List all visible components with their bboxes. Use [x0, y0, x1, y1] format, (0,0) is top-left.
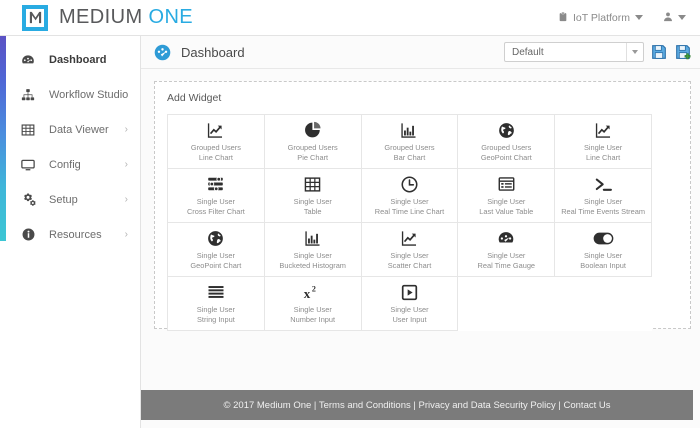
widget-cell[interactable]: Single UserTable — [265, 169, 362, 223]
widget-scope-label: Single User — [584, 251, 622, 261]
widget-cell[interactable]: Single UserReal Time Events Stream — [555, 169, 652, 223]
chevron-down-icon — [678, 15, 686, 20]
widget-name-label: Line Chart — [586, 153, 620, 163]
widget-cell[interactable]: Single UserCross Filter Chart — [168, 169, 265, 223]
widget-scope-label: Single User — [390, 305, 428, 315]
widget-name-label: GeoPoint Chart — [190, 261, 241, 271]
gauge-icon — [497, 229, 515, 248]
chevron-right-icon: › — [125, 195, 128, 205]
widget-scope-label: Grouped Users — [191, 143, 241, 153]
page-title: Dashboard — [181, 45, 245, 60]
widget-name-label: Boolean Input — [580, 261, 626, 271]
widget-scope-label: Single User — [584, 143, 622, 153]
widget-name-label: Last Value Table — [479, 207, 533, 217]
widget-scope-label: Single User — [294, 305, 332, 315]
brand-text: MEDIUM ONE — [59, 6, 193, 29]
dashboard-select-value: Default — [512, 47, 544, 58]
widget-cell[interactable]: Single UserScatter Chart — [362, 223, 459, 277]
add-widget-panel: Add Widget Grouped UsersLine ChartGroupe… — [154, 81, 691, 329]
sidebar-item-resources[interactable]: Resources › — [0, 217, 140, 252]
widget-scope-label: Single User — [584, 197, 622, 207]
platform-selector[interactable]: IoT Platform — [558, 11, 643, 25]
platform-label: IoT Platform — [573, 12, 630, 24]
sidebar-item-workflow-studio[interactable]: Workflow Studio — [0, 77, 140, 112]
widget-scope-label: Single User — [197, 251, 235, 261]
content-header-actions: Default — [504, 42, 692, 62]
widget-name-label: Table — [304, 207, 322, 217]
toggle-icon — [593, 229, 614, 248]
widget-name-label: Cross Filter Chart — [187, 207, 245, 217]
widget-scope-label: Grouped Users — [481, 143, 531, 153]
globe-icon — [207, 229, 224, 248]
widget-scope-label: Single User — [390, 197, 428, 207]
widget-cell-empty — [555, 277, 652, 331]
info-icon — [19, 228, 37, 241]
panel-title: Add Widget — [167, 92, 678, 104]
widget-scope-label: Single User — [197, 197, 235, 207]
top-bar: MEDIUM ONE IoT Platform — [0, 0, 700, 36]
widget-cell[interactable]: Single UserString Input — [168, 277, 265, 331]
chevron-down-icon — [635, 15, 643, 20]
top-bar-actions: IoT Platform — [558, 11, 686, 25]
grid-table-icon — [304, 175, 321, 194]
play-box-icon — [401, 283, 418, 302]
widget-scope-label: Grouped Users — [288, 143, 338, 153]
gauge-icon — [19, 53, 37, 67]
svg-text:2: 2 — [312, 284, 316, 293]
save-icon[interactable] — [650, 43, 668, 61]
widget-cell[interactable]: Single UserGeoPoint Chart — [168, 223, 265, 277]
bar-chart-icon — [304, 229, 322, 248]
widget-name-label: Line Chart — [199, 153, 233, 163]
sidebar-item-config[interactable]: Config › — [0, 147, 140, 182]
widget-scope-label: Single User — [294, 251, 332, 261]
sidebar-item-label: Resources — [49, 229, 102, 241]
clock-icon — [401, 175, 418, 194]
line-chart-icon — [206, 121, 225, 140]
sidebar-item-dashboard[interactable]: Dashboard — [0, 42, 140, 77]
widget-scope-label: Single User — [487, 251, 525, 261]
sidebar-item-label: Config — [49, 159, 81, 171]
user-icon — [663, 11, 673, 25]
medium-one-logo-icon — [22, 5, 48, 31]
widget-name-label: Bar Chart — [394, 153, 426, 163]
widget-cell[interactable]: Grouped UsersPie Chart — [265, 115, 362, 169]
brand-name-secondary: ONE — [148, 6, 193, 28]
sidebar-item-label: Dashboard — [49, 54, 106, 66]
terminal-icon — [594, 175, 613, 194]
sidebar-item-label: Workflow Studio — [49, 89, 128, 101]
widget-scope-label: Single User — [294, 197, 332, 207]
list-table-icon — [498, 175, 515, 194]
brand-name-primary: MEDIUM — [59, 6, 143, 28]
widget-cell[interactable]: Single UserBucketed Histogram — [265, 223, 362, 277]
widget-name-label: String Input — [197, 315, 235, 325]
sitemap-icon — [19, 88, 37, 102]
widget-name-label: User Input — [392, 315, 426, 325]
widget-cell[interactable]: Grouped UsersGeoPoint Chart — [458, 115, 555, 169]
sliders-icon — [206, 175, 225, 194]
sidebar-item-data-viewer[interactable]: Data Viewer › — [0, 112, 140, 147]
dashboard-gauge-icon — [154, 44, 171, 61]
bars-icon — [207, 283, 225, 302]
account-menu[interactable] — [663, 11, 686, 25]
widget-cell[interactable]: Grouped UsersBar Chart — [362, 115, 459, 169]
panel-wrapper: Add Widget Grouped UsersLine ChartGroupe… — [141, 69, 700, 329]
sidebar-item-setup[interactable]: Setup › — [0, 182, 140, 217]
widget-cell[interactable]: Single UserBoolean Input — [555, 223, 652, 277]
save-new-icon[interactable] — [674, 43, 692, 61]
sidebar: Dashboard Workflow Studio Data Viewer › — [0, 36, 141, 428]
widget-name-label: Real Time Events Stream — [561, 207, 645, 217]
widget-cell[interactable]: Single UserReal Time Line Chart — [362, 169, 459, 223]
widget-cell-empty — [458, 277, 555, 331]
sidebar-nav: Dashboard Workflow Studio Data Viewer › — [0, 36, 140, 252]
pie-chart-icon — [304, 121, 322, 140]
footer-text: © 2017 Medium One | Terms and Conditions… — [223, 400, 610, 411]
widget-cell[interactable]: Single UserUser Input — [362, 277, 459, 331]
widget-name-label: Pie Chart — [297, 153, 328, 163]
widget-scope-label: Single User — [390, 251, 428, 261]
content-header: Dashboard Default — [141, 36, 700, 69]
table-icon — [19, 123, 37, 137]
clipboard-icon — [558, 11, 568, 25]
widget-name-label: Number Input — [290, 315, 335, 325]
svg-text:x: x — [303, 285, 310, 300]
widget-cell[interactable]: x2Single UserNumber Input — [265, 277, 362, 331]
dashboard-select[interactable]: Default — [504, 42, 644, 62]
widget-cell[interactable]: Single UserLast Value Table — [458, 169, 555, 223]
widget-name-label: Real Time Line Chart — [375, 207, 444, 217]
widget-name-label: Real Time Gauge — [478, 261, 536, 271]
widget-cell[interactable]: Single UserReal Time Gauge — [458, 223, 555, 277]
widget-name-label: Bucketed Histogram — [279, 261, 346, 271]
widget-name-label: GeoPoint Chart — [481, 153, 532, 163]
application-window: MEDIUM ONE IoT Platform — [0, 0, 700, 428]
widget-cell[interactable]: Grouped UsersLine Chart — [168, 115, 265, 169]
gears-icon — [19, 193, 37, 207]
brand-logo[interactable]: MEDIUM ONE — [22, 5, 193, 31]
main-content: Dashboard Default Add Widget Group — [141, 36, 700, 428]
x-squared-icon: x2 — [303, 283, 323, 302]
chevron-right-icon: › — [125, 125, 128, 135]
line-chart-icon — [594, 121, 613, 140]
widget-scope-label: Single User — [197, 305, 235, 315]
footer: © 2017 Medium One | Terms and Conditions… — [141, 390, 693, 420]
widget-name-label: Scatter Chart — [388, 261, 432, 271]
monitor-icon — [19, 158, 37, 172]
chevron-right-icon: › — [125, 160, 128, 170]
chevron-right-icon: › — [125, 230, 128, 240]
widget-cell[interactable]: Single UserLine Chart — [555, 115, 652, 169]
sidebar-item-label: Setup — [49, 194, 78, 206]
sidebar-item-label: Data Viewer — [49, 124, 109, 136]
chevron-down-icon[interactable] — [626, 43, 643, 61]
globe-icon — [498, 121, 515, 140]
widget-grid: Grouped UsersLine ChartGrouped UsersPie … — [167, 114, 652, 331]
widget-scope-label: Grouped Users — [384, 143, 434, 153]
widget-scope-label: Single User — [487, 197, 525, 207]
line-chart-icon — [400, 229, 419, 248]
bar-chart-icon — [400, 121, 418, 140]
